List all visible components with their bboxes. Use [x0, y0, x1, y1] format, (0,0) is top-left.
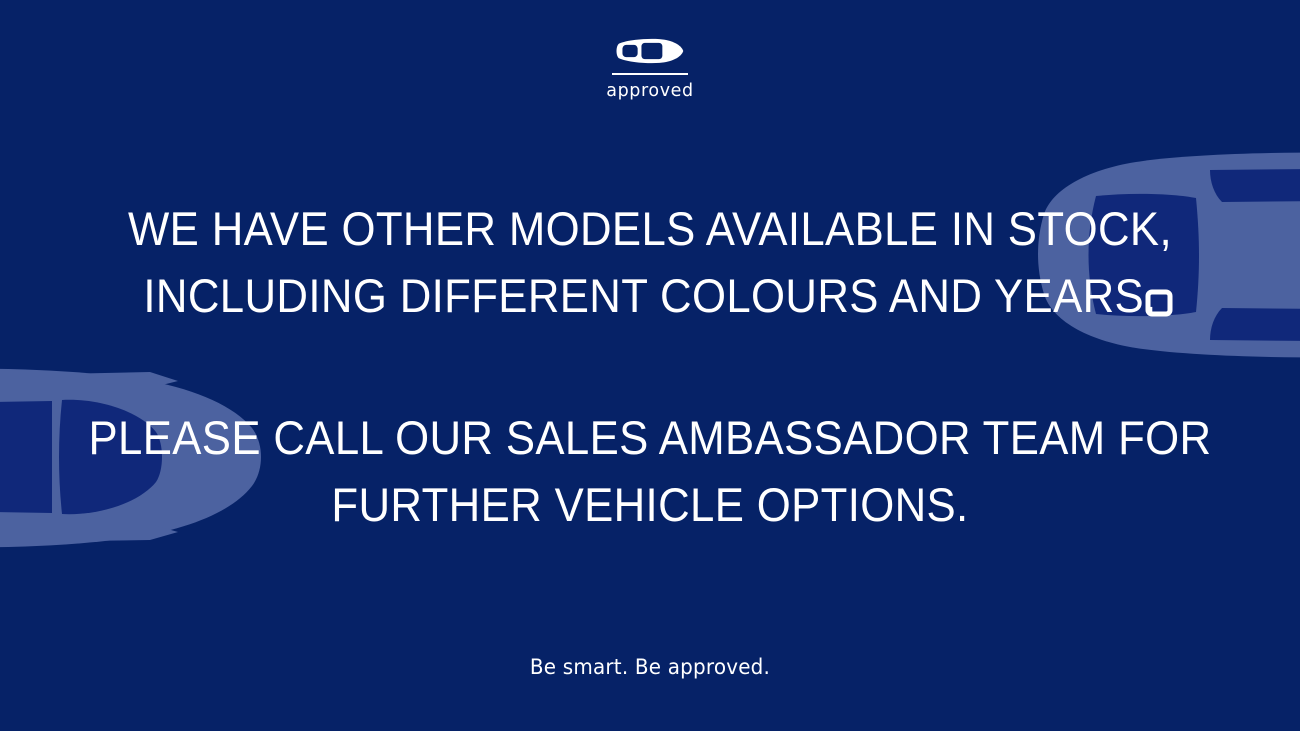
- headline-paragraph-1: WE HAVE OTHER MODELS AVAILABLE IN STOCK,…: [83, 196, 1218, 329]
- logo-divider: [612, 73, 688, 75]
- promo-slide: approved WE HAVE OTHER MODELS AVAILABLE …: [0, 0, 1300, 731]
- car-top-view-icon: [612, 34, 688, 68]
- brand-logo: approved: [0, 34, 1300, 101]
- logo-wordmark: approved: [606, 81, 694, 101]
- headline-paragraph-2: PLEASE CALL OUR SALES AMBASSADOR TEAM FO…: [83, 405, 1218, 538]
- brand-tagline: Be smart. Be approved.: [33, 655, 1268, 679]
- message-block: WE HAVE OTHER MODELS AVAILABLE IN STOCK,…: [0, 196, 1300, 539]
- tagline-block: Be smart. Be approved.: [0, 655, 1300, 679]
